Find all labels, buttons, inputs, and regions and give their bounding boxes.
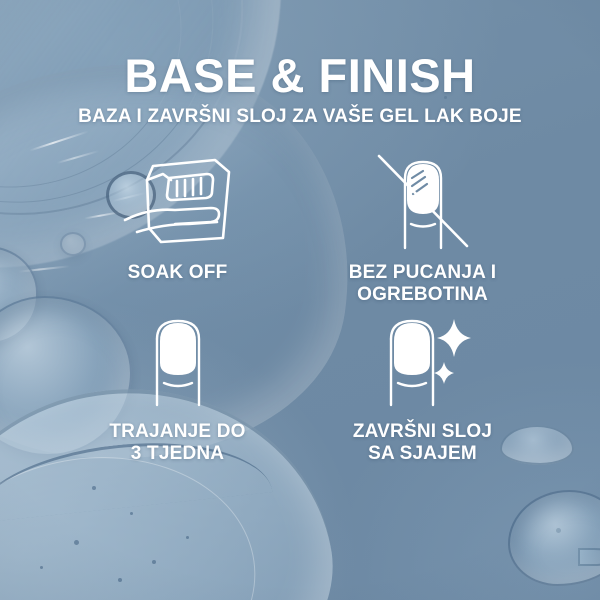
finger-nail-sparkle-icon <box>369 310 477 405</box>
feature-label: ZAVRŠNI SLOJ SA SJAJEM <box>353 421 492 466</box>
page-title: BASE & FINISH <box>0 52 600 99</box>
feature-item-soak-off: SOAK OFF <box>60 150 295 310</box>
finger-nail-icon <box>135 310 221 405</box>
page-subtitle: BAZA I ZAVRŠNI SLOJ ZA VAŠE GEL LAK BOJE <box>0 106 600 128</box>
product-feature-poster: BASE & FINISH BAZA I ZAVRŠNI SLOJ ZA VAŠ… <box>0 0 600 600</box>
feature-grid: SOAK OFF <box>60 150 540 485</box>
feature-label: SOAK OFF <box>128 262 228 284</box>
cotton-pad-nail-soak-off-icon <box>119 150 237 250</box>
feature-label: BEZ PUCANJA I OGREBOTINA <box>349 262 497 307</box>
feature-label: TRAJANJE DO 3 TJEDNA <box>109 421 245 466</box>
no-cracking-scratched-nail-icon <box>371 150 475 250</box>
feature-item-no-cracking: BEZ PUCANJA I OGREBOTINA <box>305 150 540 310</box>
feature-item-glossy-topcoat: ZAVRŠNI SLOJ SA SJAJEM <box>305 310 540 485</box>
poster-content: BASE & FINISH BAZA I ZAVRŠNI SLOJ ZA VAŠ… <box>0 0 600 600</box>
feature-item-duration: TRAJANJE DO 3 TJEDNA <box>60 310 295 485</box>
